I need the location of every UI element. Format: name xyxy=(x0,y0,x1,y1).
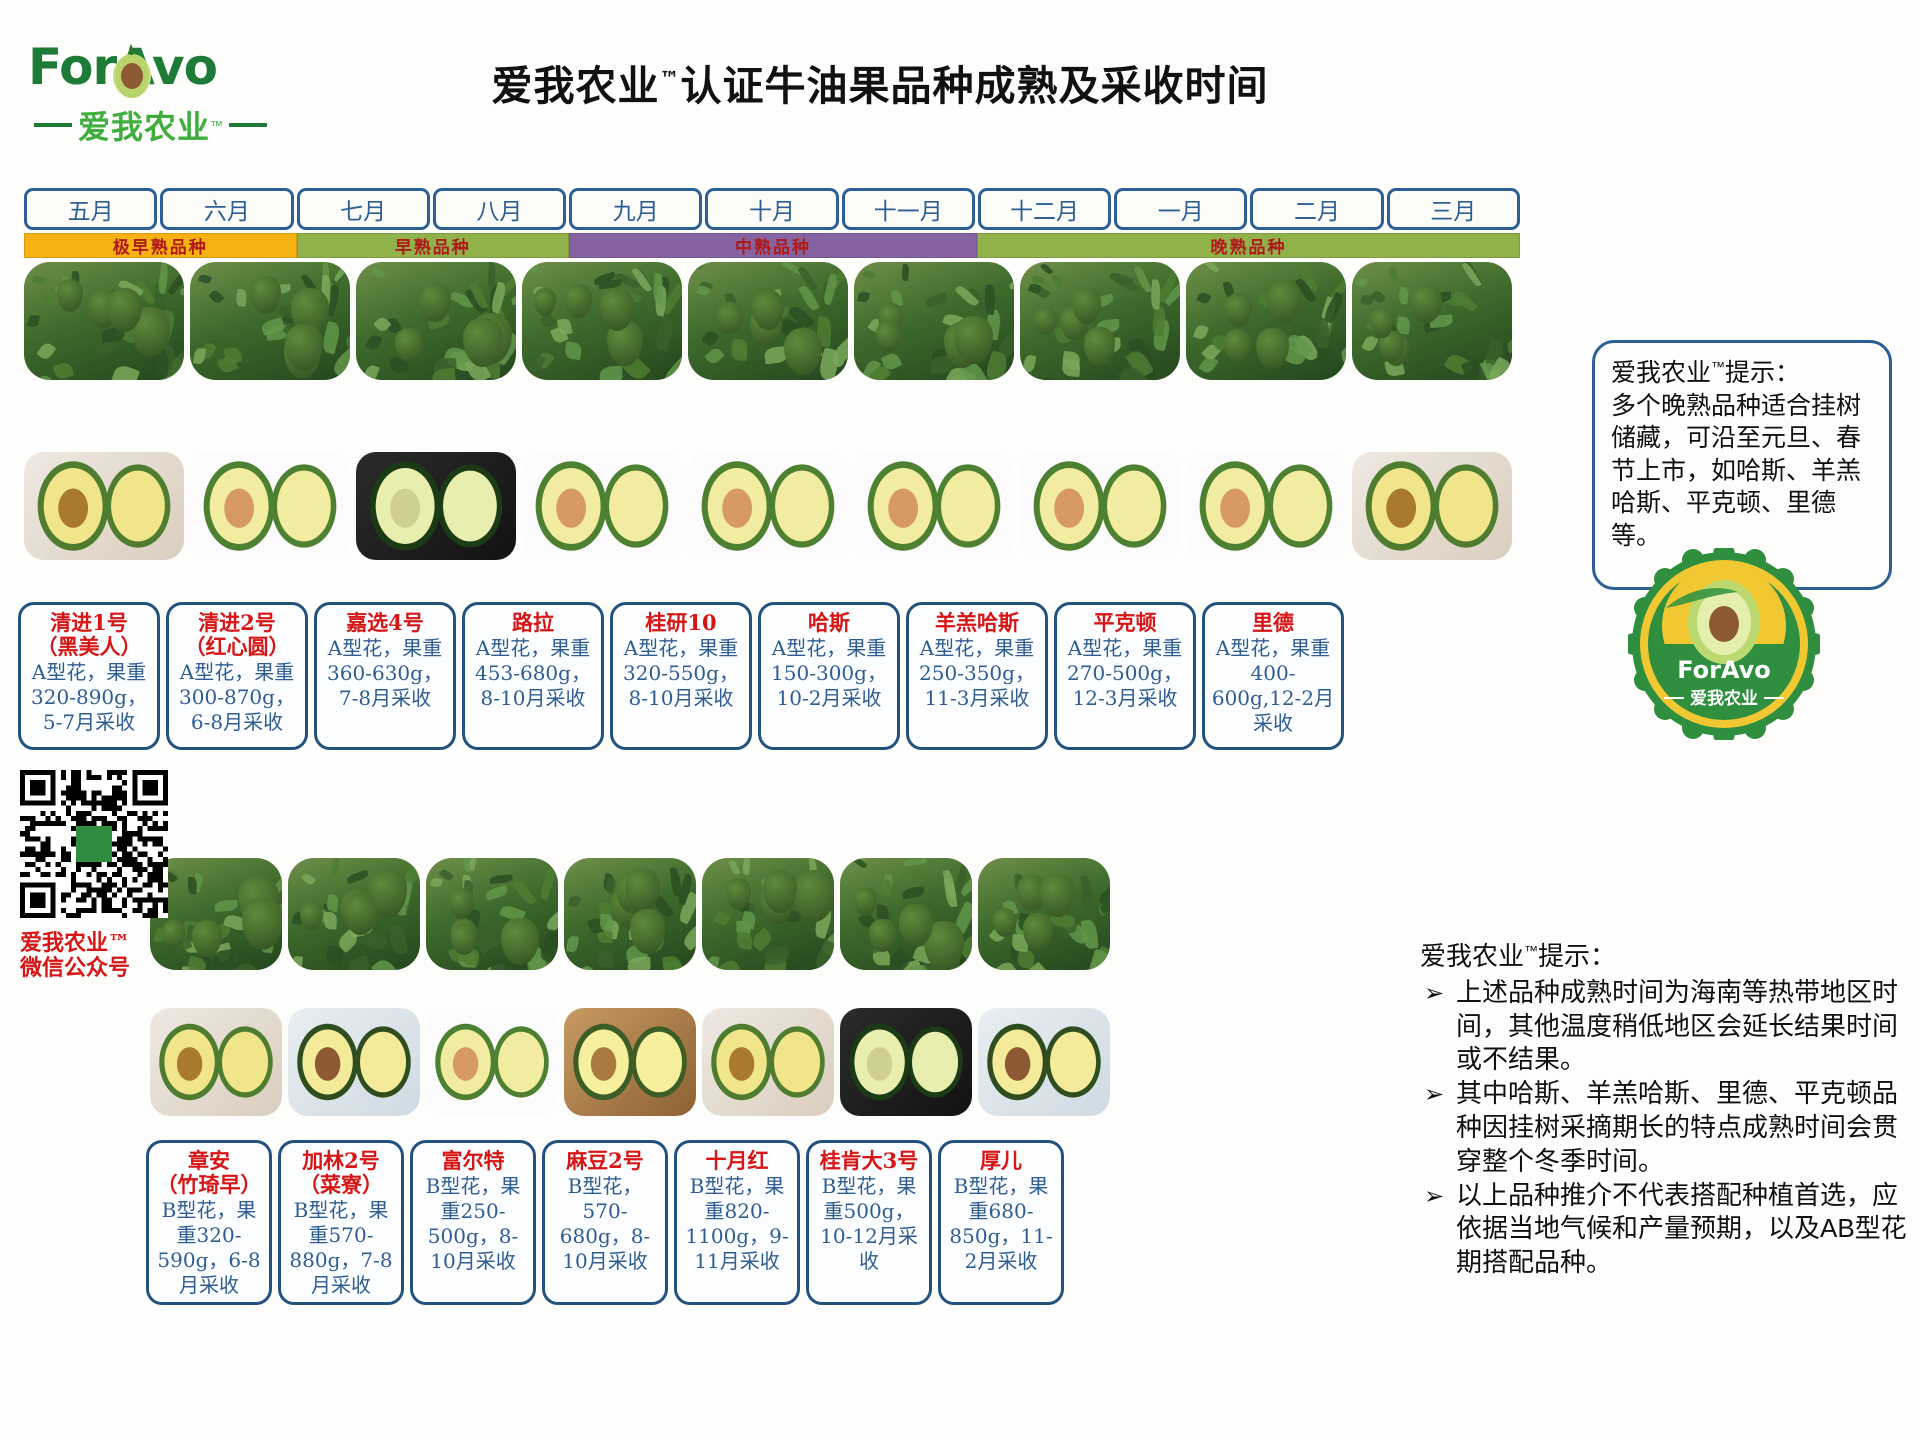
bullet-arrow-icon: ➢ xyxy=(1424,978,1444,1009)
bottom-tip-item-2: ➢其中哈斯、羊羔哈斯、里德、平克顿品种因挂树采摘期长的特点成熟时间会贯穿整个冬季… xyxy=(1420,1077,1910,1178)
bullet-arrow-icon: ➢ xyxy=(1424,1079,1444,1110)
tree-photo-2 xyxy=(190,262,350,380)
variety-card-8-name: 平克顿 xyxy=(1094,611,1157,635)
logo-dash-right xyxy=(229,123,267,127)
bottom-tip-item-1-text: 上述品种成熟时间为海南等热带地区时间，其他温度稍低地区会延长结果时间或不结果。 xyxy=(1456,977,1898,1075)
variety2-card-1-name: 章安 xyxy=(188,1149,230,1173)
variety-card-7-name: 羊羔哈斯 xyxy=(935,611,1019,635)
variety-card-9-desc: A型花，果重400-600g,12-2月采收 xyxy=(1209,636,1337,736)
page-title-tm: ™ xyxy=(660,66,681,90)
tree2-photo-3 xyxy=(426,858,558,970)
bottom-tip-item-3: ➢以上品种推介不代表搭配种植首选，应依据当地气候和产量预期，以及AB型花期搭配品… xyxy=(1420,1179,1910,1280)
row1-tree-photos xyxy=(24,262,1518,380)
bottom-tips-list: ➢上述品种成熟时间为海南等热带地区时间，其他温度稍低地区会延长结果时间或不结果。… xyxy=(1420,976,1910,1280)
cut-photo-6 xyxy=(854,452,1014,560)
bottom-tip-item-3-text: 以上品种推介不代表搭配种植首选，应依据当地气候和产量预期，以及AB型花期搭配品种… xyxy=(1456,1180,1907,1278)
tree2-photo-4 xyxy=(564,858,696,970)
variety2-card-6-name: 桂肯大3号 xyxy=(820,1149,919,1173)
logo-dash-left xyxy=(34,123,72,127)
cut2-photo-6 xyxy=(840,1008,972,1116)
variety-card-6-desc: A型花，果重150-300g，10-2月采收 xyxy=(765,636,893,711)
tree-photo-3 xyxy=(356,262,516,380)
bottom-tip-item-2-text: 其中哈斯、羊羔哈斯、里德、平克顿品种因挂树采摘期长的特点成熟时间会贯穿整个冬季时… xyxy=(1456,1078,1898,1176)
variety2-card-7[interactable]: 厚儿B型花，果重680-850g，11-2月采收 xyxy=(938,1140,1064,1305)
variety2-card-2-alias: （菜寮） xyxy=(299,1173,383,1197)
variety-card-7[interactable]: 羊羔哈斯A型花，果重250-350g，11-3月采收 xyxy=(906,602,1048,750)
variety-card-3[interactable]: 嘉选4号A型花，果重360-630g，7-8月采收 xyxy=(314,602,456,750)
cut-photo-4 xyxy=(522,452,682,560)
variety-card-2-alias: （红心圆） xyxy=(185,635,290,659)
variety-card-1[interactable]: 清进1号（黑美人）A型花，果重320-890g，5-7月采收 xyxy=(18,602,160,750)
cut2-photo-1 xyxy=(150,1008,282,1116)
page-title-part2: 认证牛油果品种成熟及采收时间 xyxy=(681,62,1269,110)
variety-card-2-name: 清进2号 xyxy=(198,611,276,635)
variety2-card-7-name: 厚儿 xyxy=(980,1149,1022,1173)
variety-card-1-alias: （黑美人） xyxy=(37,635,142,659)
bullet-arrow-icon: ➢ xyxy=(1424,1181,1444,1212)
month-cell-8: 十二月 xyxy=(978,188,1111,230)
cut-photo-1 xyxy=(24,452,184,560)
tree-photo-7 xyxy=(1020,262,1180,380)
wechat-qr-block: 爱我农业™ 微信公众号 xyxy=(20,770,180,982)
qr-code-icon[interactable] xyxy=(20,770,168,918)
month-cell-1: 五月 xyxy=(24,188,157,230)
bottom-tips-head-tail: 提示： xyxy=(1538,941,1616,971)
bottom-tip-item-1: ➢上述品种成熟时间为海南等热带地区时间，其他温度稍低地区会延长结果时间或不结果。 xyxy=(1420,976,1910,1077)
variety-card-4-desc: A型花，果重453-680g，8-10月采收 xyxy=(469,636,597,711)
tree2-photo-6 xyxy=(840,858,972,970)
page-title: 爱我农业™认证牛油果品种成熟及采收时间 xyxy=(330,52,1430,112)
brand-seal: ForAvo 爱我农业 xyxy=(1628,548,1820,740)
month-cell-3: 七月 xyxy=(297,188,430,230)
variety2-card-3-name: 富尔特 xyxy=(442,1149,505,1173)
variety-card-4[interactable]: 路拉A型花，果重453-680g，8-10月采收 xyxy=(462,602,604,750)
qr-caption-line2: 微信公众号 xyxy=(20,956,180,981)
season-band-3: 中熟品种 xyxy=(569,233,977,258)
variety-card-3-name: 嘉选4号 xyxy=(346,611,424,635)
variety-card-5[interactable]: 桂研10A型花，果重320-550g，8-10月采收 xyxy=(610,602,752,750)
season-band-2: 早熟品种 xyxy=(297,233,570,258)
month-cell-4: 八月 xyxy=(433,188,566,230)
bottom-tips-heading: 爱我农业™提示： xyxy=(1420,940,1910,974)
tip-box-body: 多个晚熟品种适合挂树储藏，可沿至元旦、春节上市，如哈斯、羊羔哈斯、平克顿、里德等… xyxy=(1611,392,1861,550)
tree2-photo-5 xyxy=(702,858,834,970)
row2-cut-photos xyxy=(150,1008,1116,1116)
cut2-photo-7 xyxy=(978,1008,1110,1116)
month-cell-5: 九月 xyxy=(569,188,702,230)
row2-variety-cards: 章安（竹琦早）B型花，果重320-590g，6-8月采收加林2号（菜寮）B型花，… xyxy=(146,1140,1070,1305)
tree2-photo-7 xyxy=(978,858,1110,970)
avocado-icon xyxy=(110,38,154,100)
variety-card-5-desc: A型花，果重320-550g，8-10月采收 xyxy=(617,636,745,711)
variety2-card-2-desc: B型花，果重570-880g，7-8月采收 xyxy=(285,1198,397,1298)
cut-photo-8 xyxy=(1186,452,1346,560)
cut2-photo-3 xyxy=(426,1008,558,1116)
variety2-card-5[interactable]: 十月红B型花，果重820-1100g，9-11月采收 xyxy=(674,1140,800,1305)
tip-box-head: 爱我农业 xyxy=(1611,359,1711,387)
variety-card-1-desc: A型花，果重320-890g，5-7月采收 xyxy=(25,660,153,735)
variety-card-5-name: 桂研10 xyxy=(645,611,716,635)
variety2-card-7-desc: B型花，果重680-850g，11-2月采收 xyxy=(945,1174,1057,1274)
variety2-card-4-desc: B型花，570-680g，8-10月采收 xyxy=(549,1174,661,1274)
tree2-photo-2 xyxy=(288,858,420,970)
variety2-card-3[interactable]: 富尔特B型花，果重250-500g，8-10月采收 xyxy=(410,1140,536,1305)
cut2-photo-4 xyxy=(564,1008,696,1116)
variety-card-7-desc: A型花，果重250-350g，11-3月采收 xyxy=(913,636,1041,711)
variety2-card-2[interactable]: 加林2号（菜寮）B型花，果重570-880g，7-8月采收 xyxy=(278,1140,404,1305)
cut-photo-2 xyxy=(190,452,350,560)
cut-photo-7 xyxy=(1020,452,1180,560)
tree-photo-8 xyxy=(1186,262,1346,380)
cut-photo-9 xyxy=(1352,452,1512,560)
variety2-card-3-desc: B型花，果重250-500g，8-10月采收 xyxy=(417,1174,529,1274)
variety-card-6[interactable]: 哈斯A型花，果重150-300g，10-2月采收 xyxy=(758,602,900,750)
variety-card-9[interactable]: 里德A型花，果重400-600g,12-2月采收 xyxy=(1202,602,1344,750)
cut-photo-5 xyxy=(688,452,848,560)
seal-chinese: 爱我农业 xyxy=(1690,688,1758,709)
qr-caption-line1: 爱我农业™ xyxy=(20,931,180,956)
tree-photo-6 xyxy=(854,262,1014,380)
row2-tree-photos xyxy=(150,858,1116,970)
month-cell-10: 二月 xyxy=(1250,188,1383,230)
month-timeline: 五月六月七月八月九月十月十一月十二月一月二月三月 xyxy=(24,188,1520,230)
variety2-card-6[interactable]: 桂肯大3号B型花，果重500g，10-12月采收 xyxy=(806,1140,932,1305)
variety-card-9-name: 里德 xyxy=(1252,611,1294,635)
variety-card-8[interactable]: 平克顿A型花，果重270-500g，12-3月采收 xyxy=(1054,602,1196,750)
tree-photo-5 xyxy=(688,262,848,380)
tip-box-head-tail: 提示： xyxy=(1725,359,1800,387)
variety-card-1-name: 清进1号 xyxy=(50,611,128,635)
variety-card-3-desc: A型花，果重360-630g，7-8月采收 xyxy=(321,636,449,711)
season-band-4: 晚熟品种 xyxy=(977,233,1520,258)
season-band-1: 极早熟品种 xyxy=(24,233,297,258)
bottom-tips: 爱我农业™提示： ➢上述品种成熟时间为海南等热带地区时间，其他温度稍低地区会延长… xyxy=(1420,940,1910,1280)
variety-card-8-desc: A型花，果重270-500g，12-3月采收 xyxy=(1061,636,1189,711)
variety-card-2[interactable]: 清进2号（红心圆）A型花，果重300-870g，6-8月采收 xyxy=(166,602,308,750)
logo-tm: ™ xyxy=(210,118,223,133)
variety2-card-6-desc: B型花，果重500g，10-12月采收 xyxy=(813,1174,925,1274)
bottom-tips-tm: ™ xyxy=(1524,942,1538,958)
variety2-card-1[interactable]: 章安（竹琦早）B型花，果重320-590g，6-8月采收 xyxy=(146,1140,272,1305)
bottom-tips-head: 爱我农业 xyxy=(1420,941,1524,971)
tree-photo-9 xyxy=(1352,262,1512,380)
month-cell-7: 十一月 xyxy=(842,188,975,230)
month-cell-6: 十月 xyxy=(705,188,838,230)
tip-box-tm: ™ xyxy=(1711,359,1725,375)
variety2-card-4-name: 麻豆2号 xyxy=(566,1149,644,1173)
tree-photo-4 xyxy=(522,262,682,380)
month-cell-2: 六月 xyxy=(160,188,293,230)
variety2-card-2-name: 加林2号 xyxy=(302,1149,380,1173)
cut2-photo-5 xyxy=(702,1008,834,1116)
variety2-card-1-desc: B型花，果重320-590g，6-8月采收 xyxy=(153,1198,265,1298)
variety2-card-5-desc: B型花，果重820-1100g，9-11月采收 xyxy=(681,1174,793,1274)
brand-logo: ForAvo 爱我农业 ™ xyxy=(28,36,298,146)
month-cell-11: 三月 xyxy=(1387,188,1520,230)
seal-wordmark: ForAvo xyxy=(1677,656,1771,684)
variety2-card-1-alias: （竹琦早） xyxy=(157,1173,262,1197)
row1-variety-cards: 清进1号（黑美人）A型花，果重320-890g，5-7月采收清进2号（红心圆）A… xyxy=(18,602,1350,750)
page-title-part1: 爱我农业 xyxy=(492,62,660,110)
variety-card-4-name: 路拉 xyxy=(512,611,554,635)
logo-chinese-name: 爱我农业 xyxy=(78,102,210,148)
row1-cut-photos xyxy=(24,452,1518,560)
variety2-card-5-name: 十月红 xyxy=(706,1149,769,1173)
variety-card-6-name: 哈斯 xyxy=(808,611,850,635)
qr-caption: 爱我农业™ 微信公众号 xyxy=(20,931,180,982)
tip-box-text: 爱我农业™提示：多个晚熟品种适合挂树储藏，可沿至元旦、春节上市，如哈斯、羊羔哈斯… xyxy=(1611,357,1873,552)
season-band-strip: 极早熟品种早熟品种中熟品种晚熟品种 xyxy=(24,233,1520,258)
cut-photo-3 xyxy=(356,452,516,560)
month-cell-9: 一月 xyxy=(1114,188,1247,230)
variety2-card-4[interactable]: 麻豆2号B型花，570-680g，8-10月采收 xyxy=(542,1140,668,1305)
variety-card-2-desc: A型花，果重300-870g，6-8月采收 xyxy=(173,660,301,735)
cut2-photo-2 xyxy=(288,1008,420,1116)
tree-photo-1 xyxy=(24,262,184,380)
